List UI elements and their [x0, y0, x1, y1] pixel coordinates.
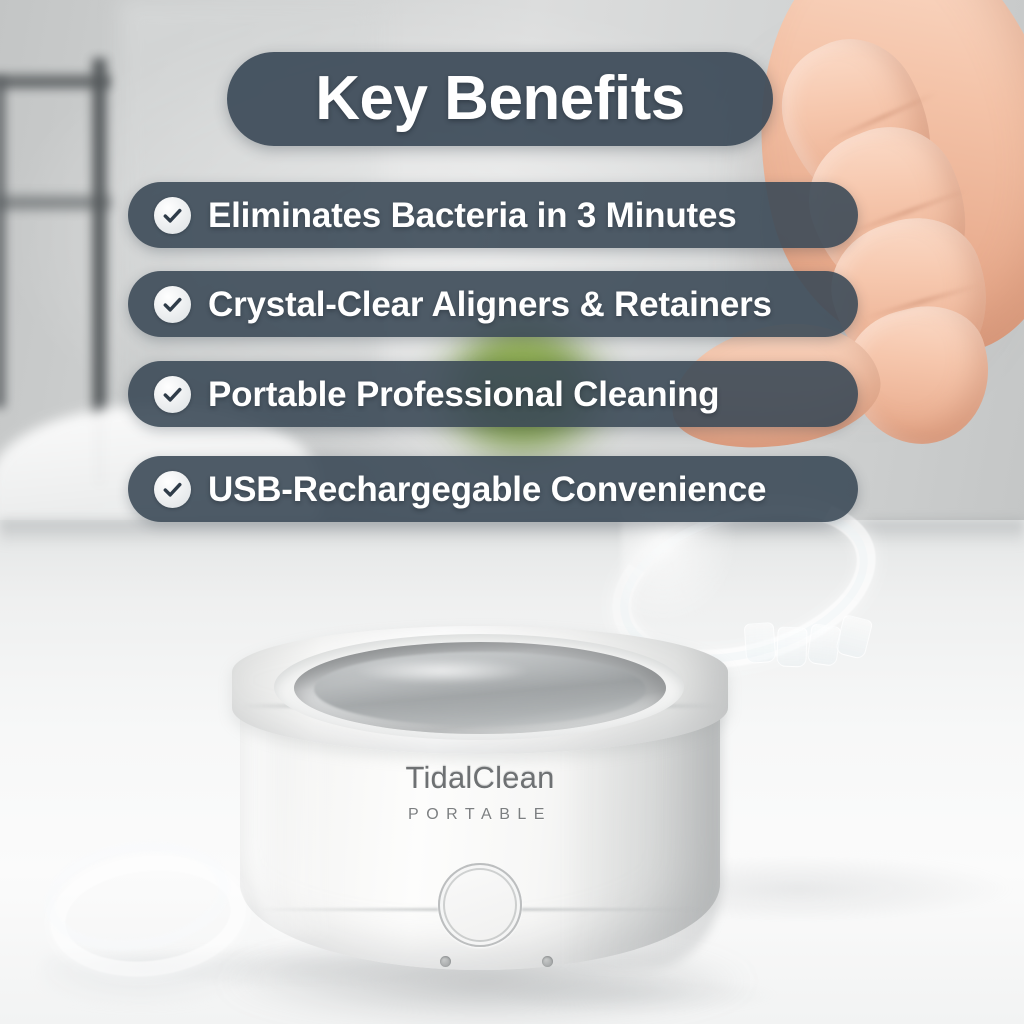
benefit-label-1: Eliminates Bacteria in 3 Minutes: [208, 198, 737, 233]
check-circle-icon: [154, 471, 191, 508]
benefit-item-2: Crystal-Clear Aligners & Retainers: [128, 271, 858, 337]
benefit-label-2: Crystal-Clear Aligners & Retainers: [208, 287, 772, 322]
benefit-item-4: USB-Rechargegable Convenience: [128, 456, 858, 522]
check-circle-icon: [154, 197, 191, 234]
benefit-label-3: Portable Professional Cleaning: [208, 377, 719, 412]
benefits-overlay: Key Benefits Eliminates Bacteria in 3 Mi…: [0, 0, 1024, 1024]
check-circle-icon: [154, 376, 191, 413]
benefit-label-4: USB-Rechargegable Convenience: [208, 472, 766, 507]
benefit-item-1: Eliminates Bacteria in 3 Minutes: [128, 182, 858, 248]
product-marketing-image: TidalClean PORTABLE Key Benefits Elimina…: [0, 0, 1024, 1024]
benefit-item-3: Portable Professional Cleaning: [128, 361, 858, 427]
check-circle-icon: [154, 286, 191, 323]
page-title-badge: Key Benefits: [227, 52, 773, 146]
page-title: Key Benefits: [315, 68, 685, 130]
